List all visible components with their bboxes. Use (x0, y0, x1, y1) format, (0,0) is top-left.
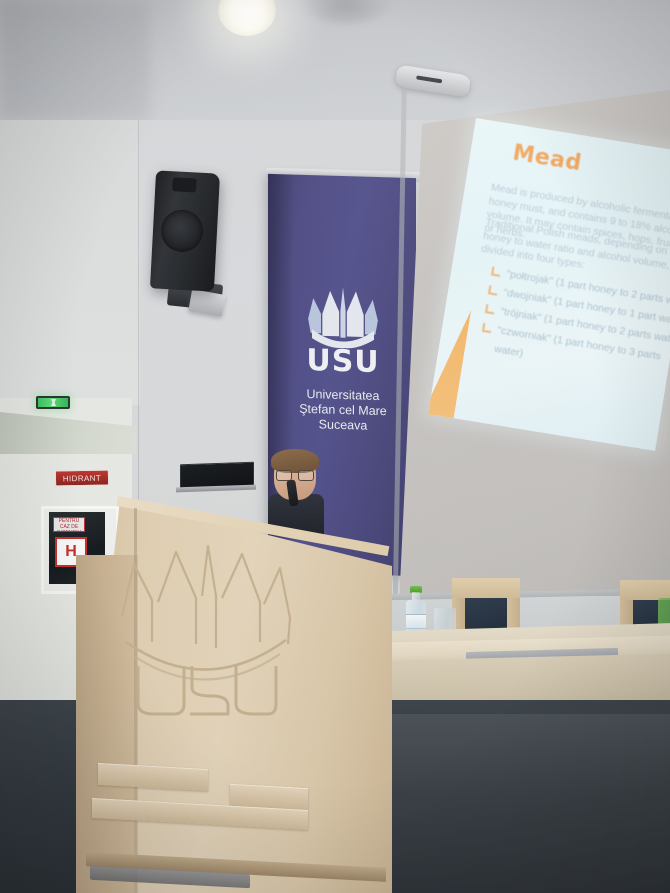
hidrant-sign: HIDRANT (55, 470, 109, 487)
podium-usu-carving-icon (104, 538, 304, 723)
exit-sign-icon (36, 396, 70, 409)
presenter (268, 452, 324, 530)
slide-title: Mead (511, 141, 584, 177)
left-wall-upper (0, 120, 140, 405)
hydrant-notice-label: PENTRU CAZ DE INCENDIU (53, 517, 85, 532)
bottle-label (406, 614, 426, 629)
usu-crown-logo-icon (304, 285, 382, 349)
pa-speaker-icon (150, 170, 220, 291)
banner-line-3: Suceava (278, 416, 408, 435)
glasses-icon (276, 470, 314, 479)
ceiling-shadow (0, 0, 150, 120)
speaker-tweeter (172, 177, 197, 192)
usu-wordmark: USU (297, 343, 389, 381)
lecture-hall-photo: HIDRANT PENTRU CAZ DE INCENDIU H (0, 0, 670, 893)
chair-backrest (452, 578, 520, 600)
speaker-woofer (160, 209, 204, 253)
